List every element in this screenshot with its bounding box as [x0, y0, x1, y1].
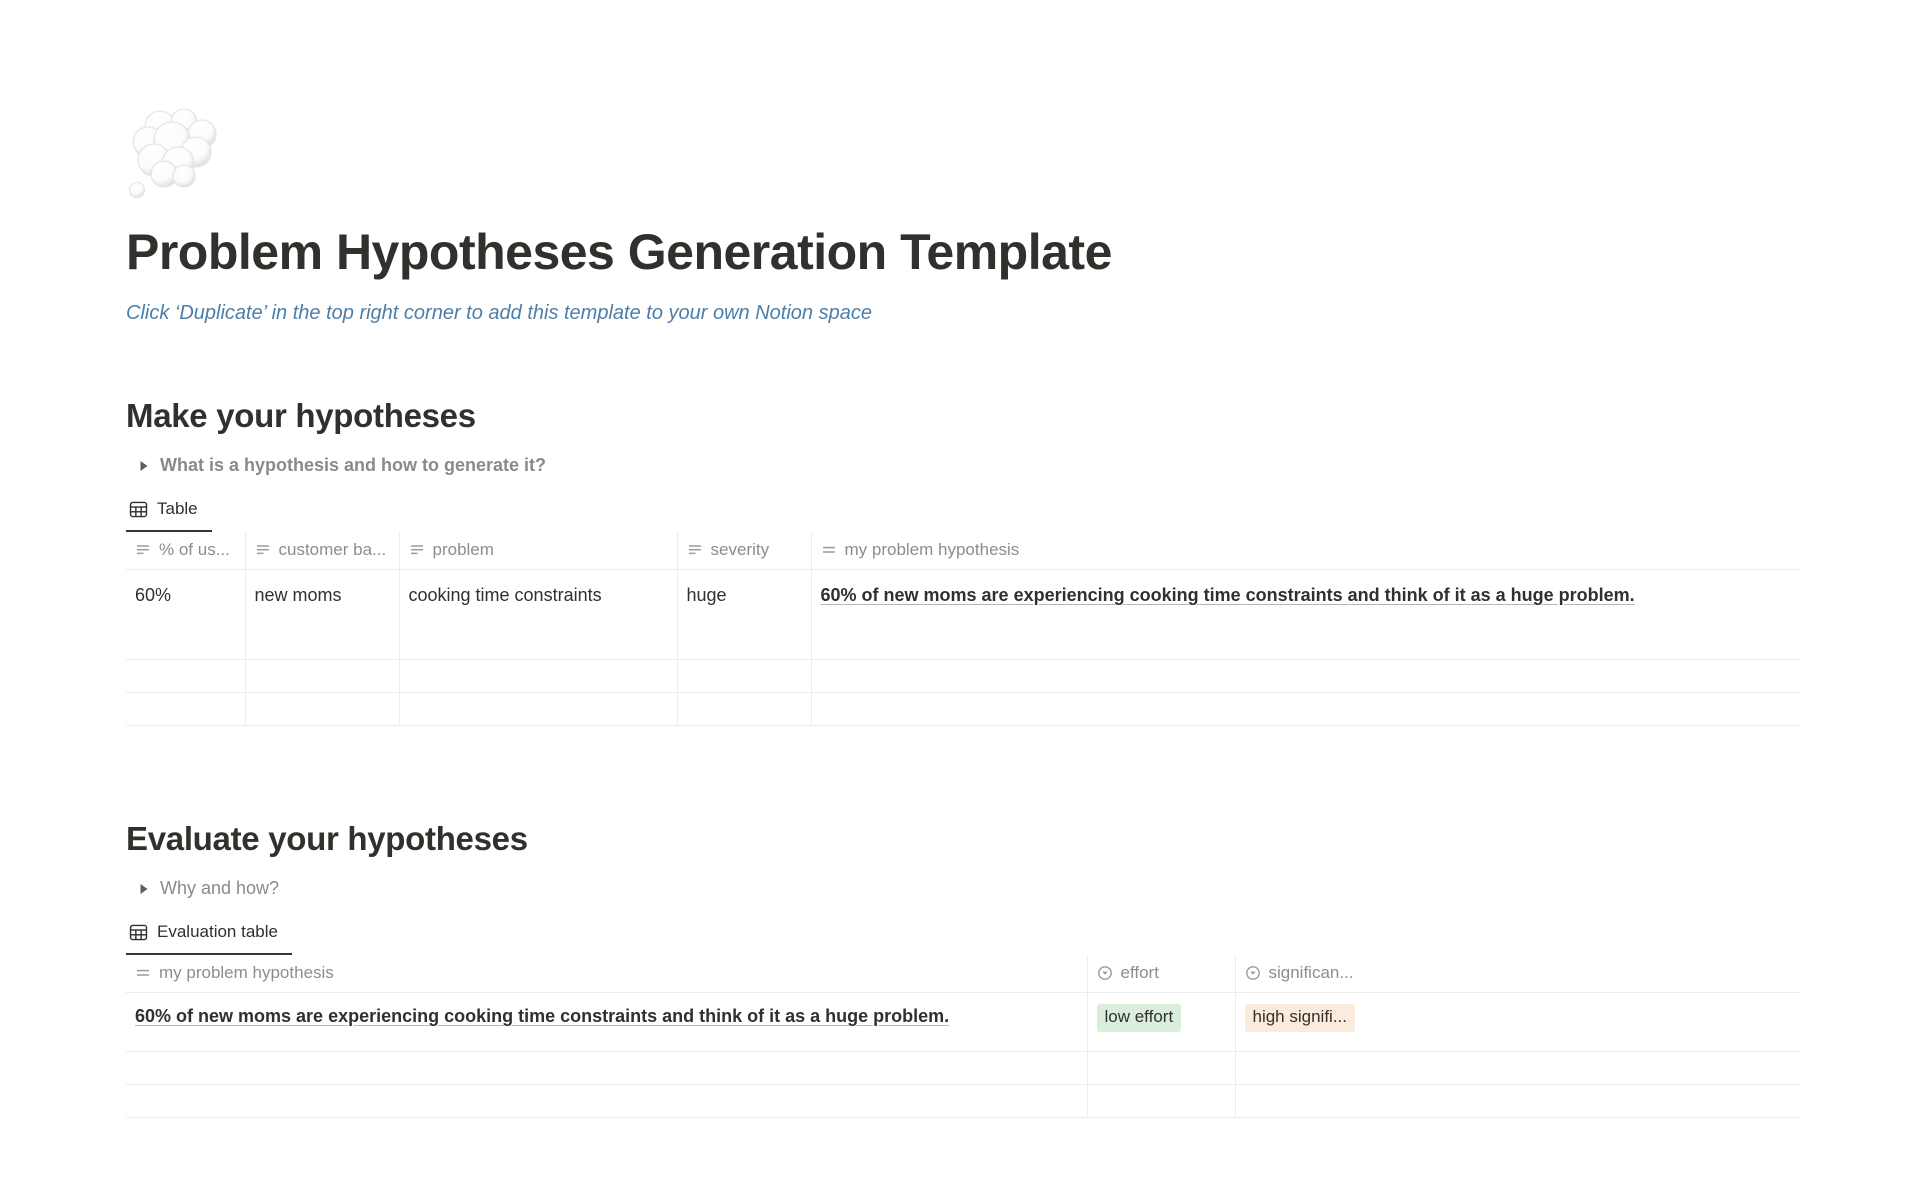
column-label: my problem hypothesis [159, 963, 334, 983]
hypothesis-text: 60% of new moms are experiencing cooking… [135, 1006, 949, 1026]
table-row[interactable] [126, 660, 1801, 693]
cell-effort[interactable] [1087, 1051, 1235, 1084]
cell-significance[interactable] [1235, 1051, 1801, 1084]
page-content: Problem Hypotheses Generation Template C… [126, 0, 1801, 1118]
column-header-percent-of-users[interactable]: % of us... [126, 532, 245, 570]
column-header-significance[interactable]: significan... [1235, 955, 1801, 993]
tab-label: Evaluation table [157, 922, 278, 942]
page-subtitle: Click ‘Duplicate’ in the top right corne… [126, 298, 1801, 328]
text-property-icon [135, 542, 151, 558]
table-block-hypotheses: % of us... [126, 532, 1801, 727]
page-title: Problem Hypotheses Generation Template [126, 224, 1801, 280]
cell-percent-of-users[interactable] [126, 693, 245, 726]
triangle-right-icon[interactable] [138, 882, 150, 896]
cell-severity[interactable]: huge [677, 570, 811, 660]
cell-percent-of-users[interactable] [126, 660, 245, 693]
column-header-customer-base[interactable]: customer ba... [245, 532, 399, 570]
cell-problem[interactable]: cooking time constraints [399, 570, 677, 660]
cell-customer-base[interactable] [245, 660, 399, 693]
cell-percent-of-users[interactable]: 60% [126, 570, 245, 660]
evaluation-table: my problem hypothesis [126, 955, 1801, 1118]
text-property-icon [255, 542, 271, 558]
table-block-evaluation: my problem hypothesis [126, 955, 1801, 1118]
select-property-icon [1245, 965, 1261, 981]
column-header-my-problem-hypothesis[interactable]: my problem hypothesis [811, 532, 1801, 570]
table-grid-icon [129, 500, 148, 519]
database-tab-strip-2: Evaluation table [126, 921, 1801, 955]
tab-evaluation-table[interactable]: Evaluation table [126, 921, 292, 955]
status-badge-effort: low effort [1097, 1004, 1182, 1032]
cell-effort[interactable]: low effort [1087, 993, 1235, 1051]
cell-problem[interactable] [399, 660, 677, 693]
table-row[interactable] [126, 1084, 1801, 1117]
tab-table[interactable]: Table [126, 498, 212, 532]
formula-property-icon [135, 965, 151, 981]
cell-problem[interactable] [399, 693, 677, 726]
table-row[interactable]: 60% of new moms are experiencing cooking… [126, 993, 1801, 1051]
column-label: customer ba... [279, 540, 387, 560]
hypotheses-table: % of us... [126, 532, 1801, 727]
cell-customer-base[interactable]: new moms [245, 570, 399, 660]
cell-my-problem-hypothesis[interactable] [126, 1051, 1087, 1084]
database-tab-strip-1: Table [126, 498, 1801, 532]
cell-my-problem-hypothesis[interactable] [811, 693, 1801, 726]
cell-my-problem-hypothesis[interactable] [126, 1084, 1087, 1117]
triangle-right-icon[interactable] [138, 459, 150, 473]
formula-property-icon [821, 542, 837, 558]
cell-my-problem-hypothesis[interactable]: 60% of new moms are experiencing cooking… [126, 993, 1087, 1051]
column-header-effort[interactable]: effort [1087, 955, 1235, 993]
cell-effort[interactable] [1087, 1084, 1235, 1117]
thought-balloon-emoji-icon[interactable] [126, 108, 236, 200]
column-label: my problem hypothesis [845, 540, 1020, 560]
column-label: significan... [1269, 963, 1354, 983]
cell-significance[interactable] [1235, 1084, 1801, 1117]
table-row[interactable]: 60% new moms cooking time constraints hu… [126, 570, 1801, 660]
hypothesis-text: 60% of new moms are experiencing cooking… [821, 585, 1635, 605]
cell-customer-base[interactable] [245, 693, 399, 726]
column-label: problem [433, 540, 494, 560]
table-header-row: % of us... [126, 532, 1801, 570]
toggle-why-and-how[interactable]: Why and how? [126, 875, 1801, 903]
section-heading-evaluate-your-hypotheses: Evaluate your hypotheses [126, 819, 1801, 859]
cell-significance[interactable]: high signifi... [1235, 993, 1801, 1051]
toggle-label: What is a hypothesis and how to generate… [160, 455, 546, 476]
column-header-problem[interactable]: problem [399, 532, 677, 570]
cell-my-problem-hypothesis[interactable] [811, 660, 1801, 693]
column-label: effort [1121, 963, 1159, 983]
table-header-row: my problem hypothesis [126, 955, 1801, 993]
section-heading-make-your-hypotheses: Make your hypotheses [126, 396, 1801, 436]
table-grid-icon [129, 923, 148, 942]
tab-label: Table [157, 499, 198, 519]
toggle-label: Why and how? [160, 878, 279, 899]
column-label: % of us... [159, 540, 230, 560]
cell-severity[interactable] [677, 660, 811, 693]
status-badge-significance: high signifi... [1245, 1004, 1356, 1032]
column-label: severity [711, 540, 770, 560]
column-header-my-problem-hypothesis[interactable]: my problem hypothesis [126, 955, 1087, 993]
toggle-what-is-a-hypothesis[interactable]: What is a hypothesis and how to generate… [126, 452, 1801, 480]
column-header-severity[interactable]: severity [677, 532, 811, 570]
table-row[interactable] [126, 693, 1801, 726]
table-row[interactable] [126, 1051, 1801, 1084]
cell-my-problem-hypothesis[interactable]: 60% of new moms are experiencing cooking… [811, 570, 1801, 660]
cell-severity[interactable] [677, 693, 811, 726]
select-property-icon [1097, 965, 1113, 981]
notion-page: Problem Hypotheses Generation Template C… [0, 0, 1920, 1199]
text-property-icon [409, 542, 425, 558]
text-property-icon [687, 542, 703, 558]
